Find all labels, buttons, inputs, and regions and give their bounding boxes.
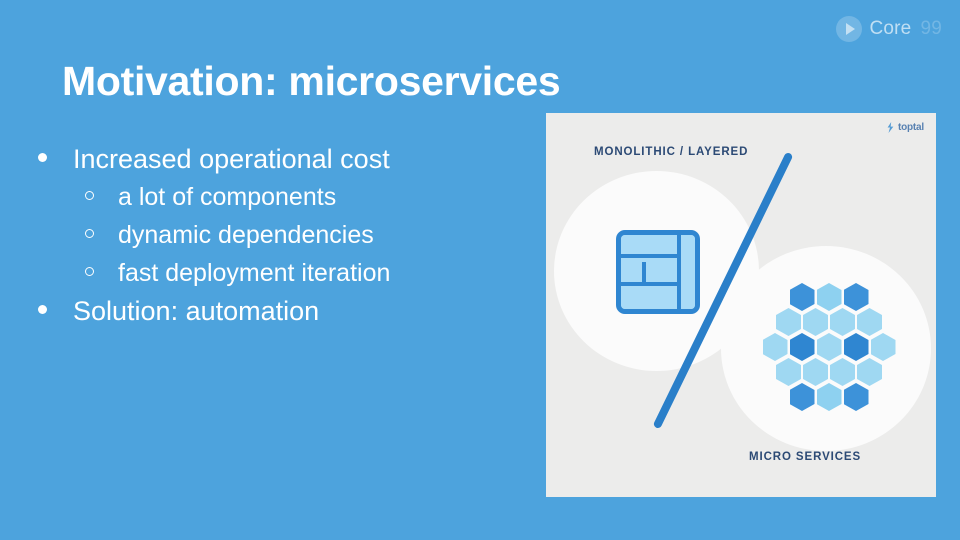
list-item: Solution: automation — [38, 292, 508, 330]
bullet-list: Increased operational cost a lot of comp… — [38, 140, 508, 330]
monolith-cell-left — [621, 262, 646, 281]
list-item-label: fast deployment iteration — [118, 254, 390, 292]
hexagon-icon — [817, 333, 842, 361]
watermark-label-faint: 99 — [920, 18, 942, 40]
bullet-circle-icon — [85, 191, 94, 200]
monolith-layer-bottom — [621, 290, 677, 309]
hexagon-icon — [790, 333, 815, 361]
hexagon-icon — [830, 308, 855, 336]
hexagon-icon — [776, 308, 801, 336]
hex-row — [754, 283, 904, 311]
core-watermark: Core 99 — [836, 16, 942, 42]
list-item-label: Increased operational cost — [73, 140, 390, 178]
monolithic-label: MONOLITHIC / LAYERED — [594, 146, 748, 158]
list-item: Increased operational cost — [38, 140, 508, 178]
hexagon-icon — [844, 333, 869, 361]
page-title: Motivation: microservices — [62, 58, 560, 105]
toptal-brand-label: toptal — [898, 122, 924, 133]
hexagon-icon — [803, 358, 828, 386]
hex-row — [754, 383, 904, 411]
monolith-cell-right — [646, 262, 677, 281]
bullet-circle-icon — [85, 229, 94, 238]
hexagon-icon — [817, 383, 842, 411]
bullet-dot-icon — [38, 153, 47, 162]
microservices-label: MICRO SERVICES — [749, 451, 861, 463]
monolith-layer-top — [621, 235, 677, 258]
list-item: fast deployment iteration — [85, 254, 508, 292]
monolith-layers — [621, 235, 677, 309]
toptal-bolt-icon — [886, 122, 895, 133]
hexagon-icon — [844, 283, 869, 311]
monolith-sidebar — [677, 235, 695, 309]
toptal-logo: toptal — [886, 122, 924, 133]
hexagon-icon — [776, 358, 801, 386]
monolith-layer-middle — [621, 262, 677, 285]
hexagon-icon — [803, 308, 828, 336]
list-item-label: a lot of components — [118, 178, 336, 216]
list-item: a lot of components — [85, 178, 508, 216]
hexagon-icon — [817, 283, 842, 311]
bullet-dot-icon — [38, 305, 47, 314]
list-item-label: dynamic dependencies — [118, 216, 374, 254]
list-item-label: Solution: automation — [73, 292, 319, 330]
monolithic-block-icon — [616, 230, 700, 314]
infographic-panel: toptal MONOLITHIC / LAYERED MICRO SERVIC… — [546, 113, 936, 497]
hex-row — [754, 333, 904, 361]
hexagon-icon — [830, 358, 855, 386]
watermark-label: Core — [869, 18, 911, 40]
bullet-circle-icon — [85, 267, 94, 276]
list-item: dynamic dependencies — [85, 216, 508, 254]
hexagon-icon — [790, 383, 815, 411]
hexagon-icon — [857, 358, 882, 386]
slide-root: Core 99 Motivation: microservices Increa… — [0, 0, 960, 540]
microservices-hex-grid — [754, 283, 904, 418]
hexagon-icon — [763, 333, 788, 361]
hexagon-icon — [857, 308, 882, 336]
hex-row — [754, 358, 904, 386]
play-circle-icon — [836, 16, 862, 42]
hexagon-icon — [871, 333, 896, 361]
hexagon-icon — [790, 283, 815, 311]
hexagon-icon — [844, 383, 869, 411]
hex-row — [754, 308, 904, 336]
